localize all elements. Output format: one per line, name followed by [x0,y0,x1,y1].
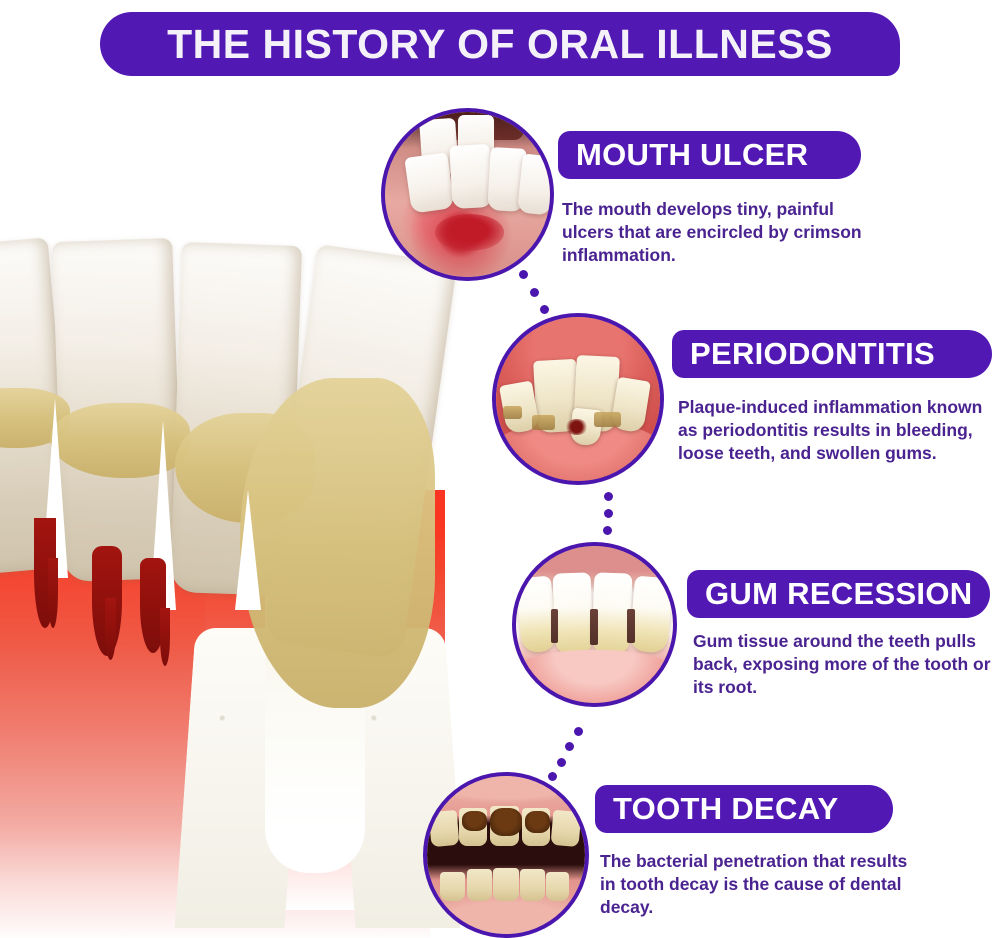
dotted-connector [540,305,549,314]
periodontitis-photo[interactable] [492,313,664,485]
dotted-connector [557,758,566,767]
blood-drip-6 [160,608,170,666]
gum-recession-photo[interactable] [512,542,677,707]
section-body-gum-recession: Gum tissue around the teeth pulls back, … [693,630,1000,699]
upper-lip [427,776,585,804]
dotted-connector [604,492,613,501]
section-body-tooth-decay: The bacterial penetration that results i… [600,850,915,919]
tooth-decay-photo[interactable] [423,772,589,938]
dotted-connector [603,526,612,535]
section-badge-tooth-decay: TOOTH DECAY [595,785,893,833]
section-badge-mouth-ulcer: MOUTH ULCER [558,131,861,179]
section-title-mouth-ulcer: MOUTH ULCER [576,137,808,173]
page-title-badge: THE HISTORY OF ORAL ILLNESS [100,12,900,76]
periodontitis-cross-section-illustration [0,228,460,938]
section-body-periodontitis: Plaque-induced inflammation known as per… [678,396,998,465]
dotted-connector [565,742,574,751]
ulcer-lesion [435,214,504,250]
blood-drip-2 [48,558,58,628]
gum-bleed-spot [565,419,588,435]
infographic-root: THE HISTORY OF ORAL ILLNESS MOUTH ULCER … [0,0,1000,938]
dotted-connector [604,509,613,518]
blood-drip-4 [105,598,116,660]
section-title-tooth-decay: TOOTH DECAY [613,791,839,827]
tartar-deposit-2 [50,403,190,478]
section-title-gum-recession: GUM RECESSION [705,576,972,612]
page-title: THE HISTORY OF ORAL ILLNESS [167,21,833,68]
section-body-mouth-ulcer: The mouth develops tiny, painful ulcers … [562,198,872,267]
dotted-connector [530,288,539,297]
section-title-periodontitis: PERIODONTITIS [690,336,935,372]
section-badge-gum-recession: GUM RECESSION [687,570,990,618]
tartar-deposit-4 [240,378,435,708]
section-badge-periodontitis: PERIODONTITIS [672,330,992,378]
dotted-connector [574,727,583,736]
mouth-ulcer-photo[interactable] [381,108,554,281]
dotted-connector [519,270,528,279]
